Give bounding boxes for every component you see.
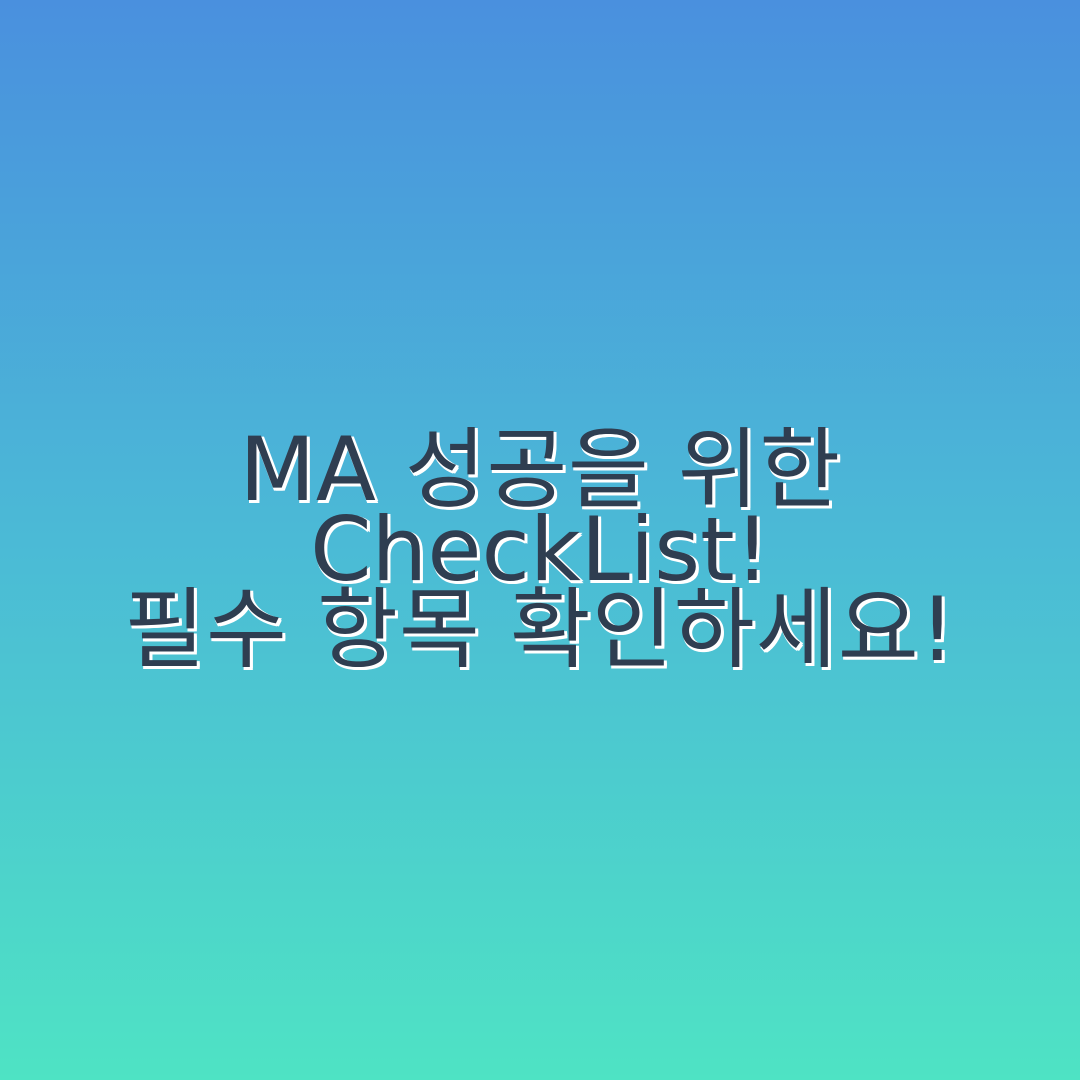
- headline-line-3: 필수 항목 확인하세요!: [24, 590, 1056, 670]
- headline-block: MA 성공을 위한 CheckList! 필수 항목 확인하세요!: [0, 430, 1080, 670]
- title-card: MA 성공을 위한 CheckList! 필수 항목 확인하세요!: [0, 0, 1080, 1080]
